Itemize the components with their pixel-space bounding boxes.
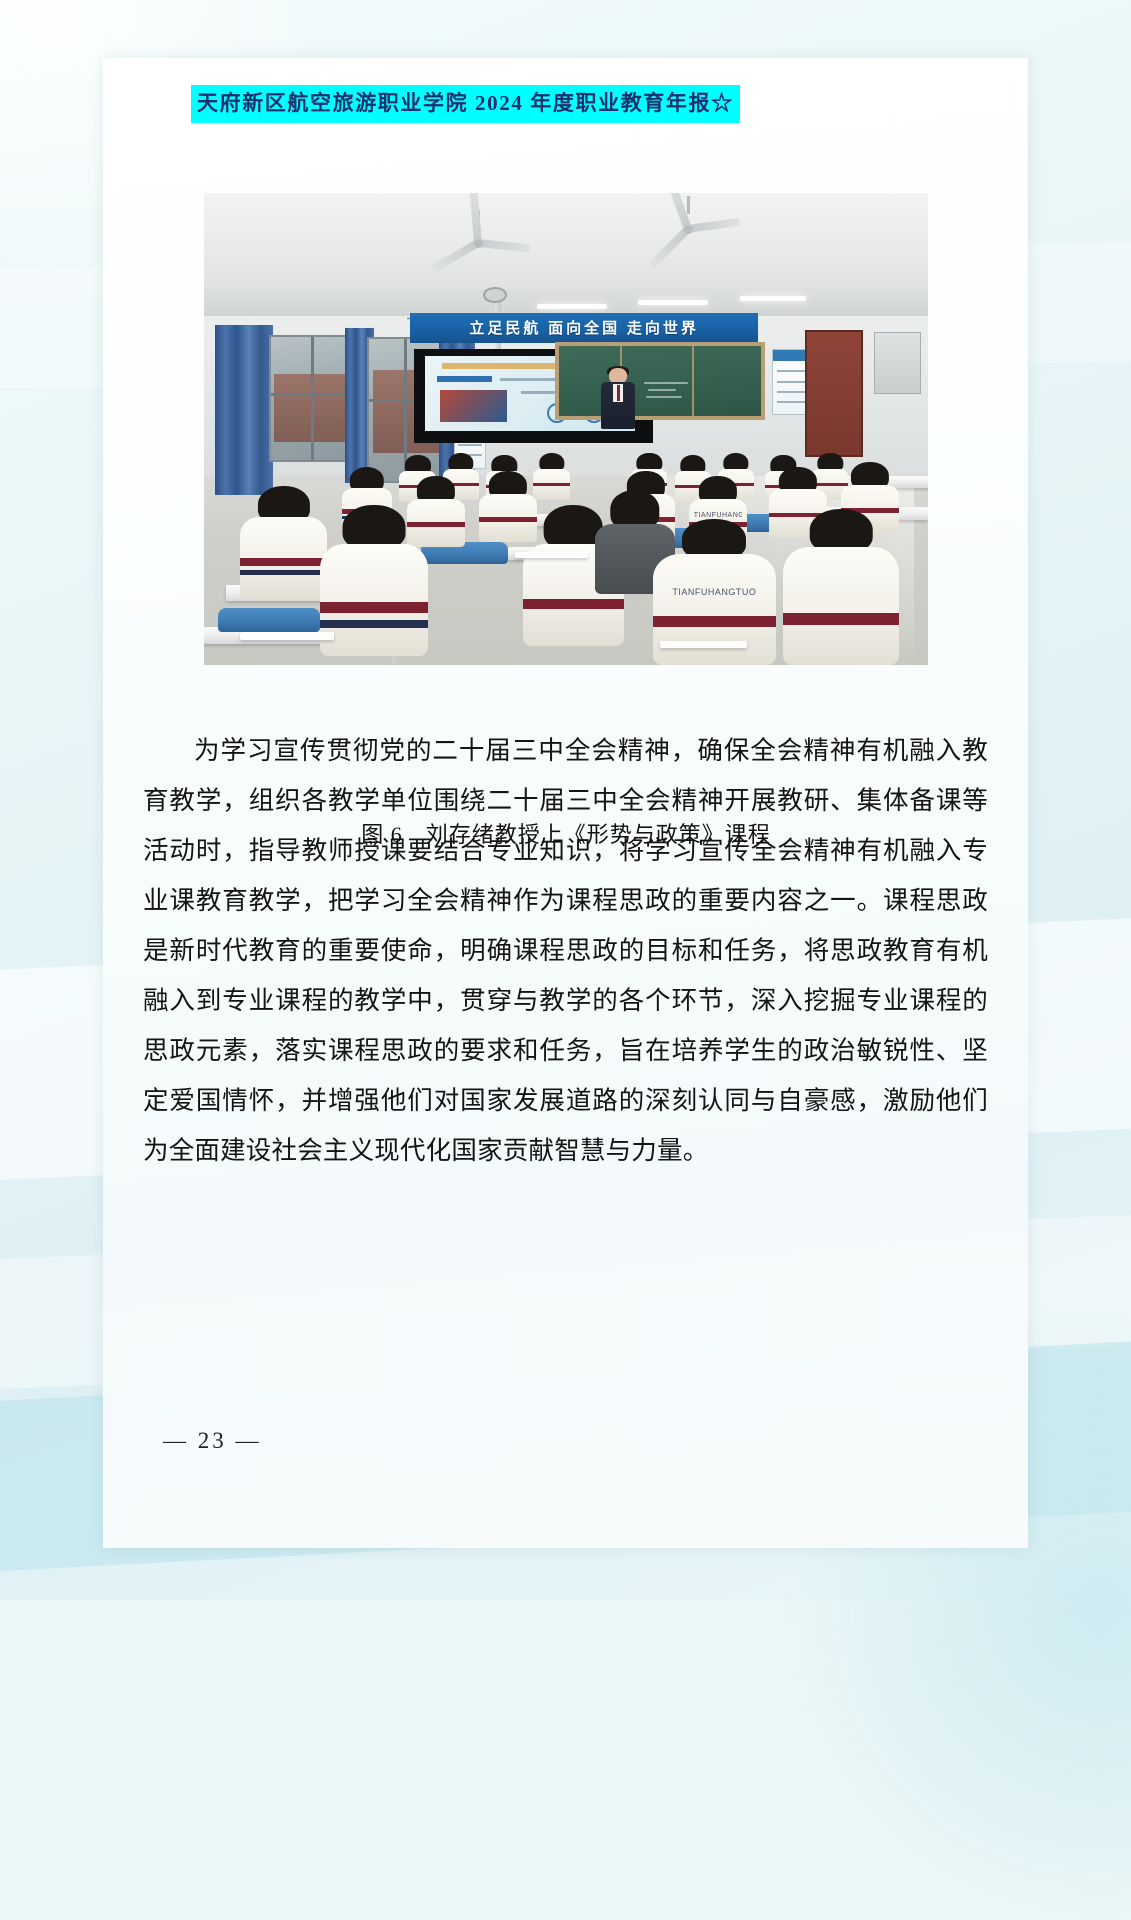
poster-line xyxy=(458,444,482,446)
window-curtain xyxy=(215,325,273,495)
classroom-banner-text: 立足民航 面向全国 走向世界 xyxy=(469,317,699,338)
poster-header xyxy=(773,350,809,362)
poster-line xyxy=(777,370,805,372)
ceiling-lamp xyxy=(537,304,607,309)
window-mullion xyxy=(311,337,314,460)
chalk-writing xyxy=(648,389,676,391)
fan-hub xyxy=(474,239,483,248)
uniform-stripe xyxy=(240,558,327,566)
running-header-text: 天府新区航空旅游职业学院 2024 年度职业教育年报☆ xyxy=(191,85,740,123)
student-chair xyxy=(218,608,319,632)
uniform-stripe xyxy=(320,620,429,628)
uniform-stripe xyxy=(240,570,327,576)
fan-hub xyxy=(684,225,693,234)
document-page: 天府新区航空旅游职业学院 2024 年度职业教育年报☆ xyxy=(103,58,1028,1548)
page-surface: 天府新区航空旅游职业学院 2024 年度职业教育年报☆ xyxy=(103,58,1028,1548)
body-paragraph: 为学习宣传贯彻党的二十届三中全会精神，确保全会精神有机融入教育教学，组织各教学单… xyxy=(143,726,988,1176)
running-header: 天府新区航空旅游职业学院 2024 年度职业教育年报☆ xyxy=(191,85,740,123)
student-figure xyxy=(783,509,899,665)
chalk-writing xyxy=(646,396,682,398)
blackboard-seam xyxy=(692,346,694,416)
classroom-photo: 立足民航 面向全国 走向世界 xyxy=(204,193,928,665)
blackboard xyxy=(555,342,765,420)
chalk-writing xyxy=(644,382,688,384)
teacher-head xyxy=(609,368,628,384)
student-uniform xyxy=(783,547,899,665)
poster-line xyxy=(777,391,805,393)
student-figure xyxy=(320,505,429,656)
student-uniform xyxy=(240,517,327,599)
ceiling-fan-icon xyxy=(443,226,513,260)
uniform-stripe xyxy=(320,602,429,613)
classroom-banner: 立足民航 面向全国 走向世界 xyxy=(410,313,758,342)
student-uniform: TIANFUHANGTUO xyxy=(653,554,776,665)
poster-line xyxy=(777,401,805,403)
uniform-stripe xyxy=(653,616,776,627)
teacher-tie xyxy=(617,385,620,401)
student-figure xyxy=(533,453,569,500)
uniform-stripe xyxy=(523,599,624,609)
page-number: — 23 — xyxy=(163,1428,262,1454)
poster-line xyxy=(777,381,805,383)
window-mullion xyxy=(271,393,354,396)
figure-6: 立足民航 面向全国 走向世界 xyxy=(204,193,928,665)
notebook xyxy=(240,632,334,640)
slide-accent-bar xyxy=(437,376,492,382)
notebook xyxy=(515,552,587,558)
notebook xyxy=(660,641,747,648)
classroom-window xyxy=(269,335,356,462)
ceiling-lamp xyxy=(740,296,806,301)
ceiling-lamp xyxy=(638,300,708,305)
student-uniform xyxy=(533,469,569,500)
uniform-stripe xyxy=(533,483,569,486)
wall-cabinet xyxy=(874,332,921,393)
student-hair xyxy=(544,505,603,550)
student-figure xyxy=(240,486,327,599)
uniform-stripe xyxy=(783,613,899,625)
slide-image xyxy=(440,390,507,422)
ceiling-fan-icon xyxy=(653,212,723,246)
teacher-figure xyxy=(599,368,638,429)
uniform-back-text: TIANFUHANGTUO xyxy=(663,587,766,597)
fan-rod xyxy=(687,196,690,214)
classroom-door xyxy=(805,330,863,457)
student-uniform xyxy=(320,544,429,656)
slide-title-bar xyxy=(442,363,557,370)
